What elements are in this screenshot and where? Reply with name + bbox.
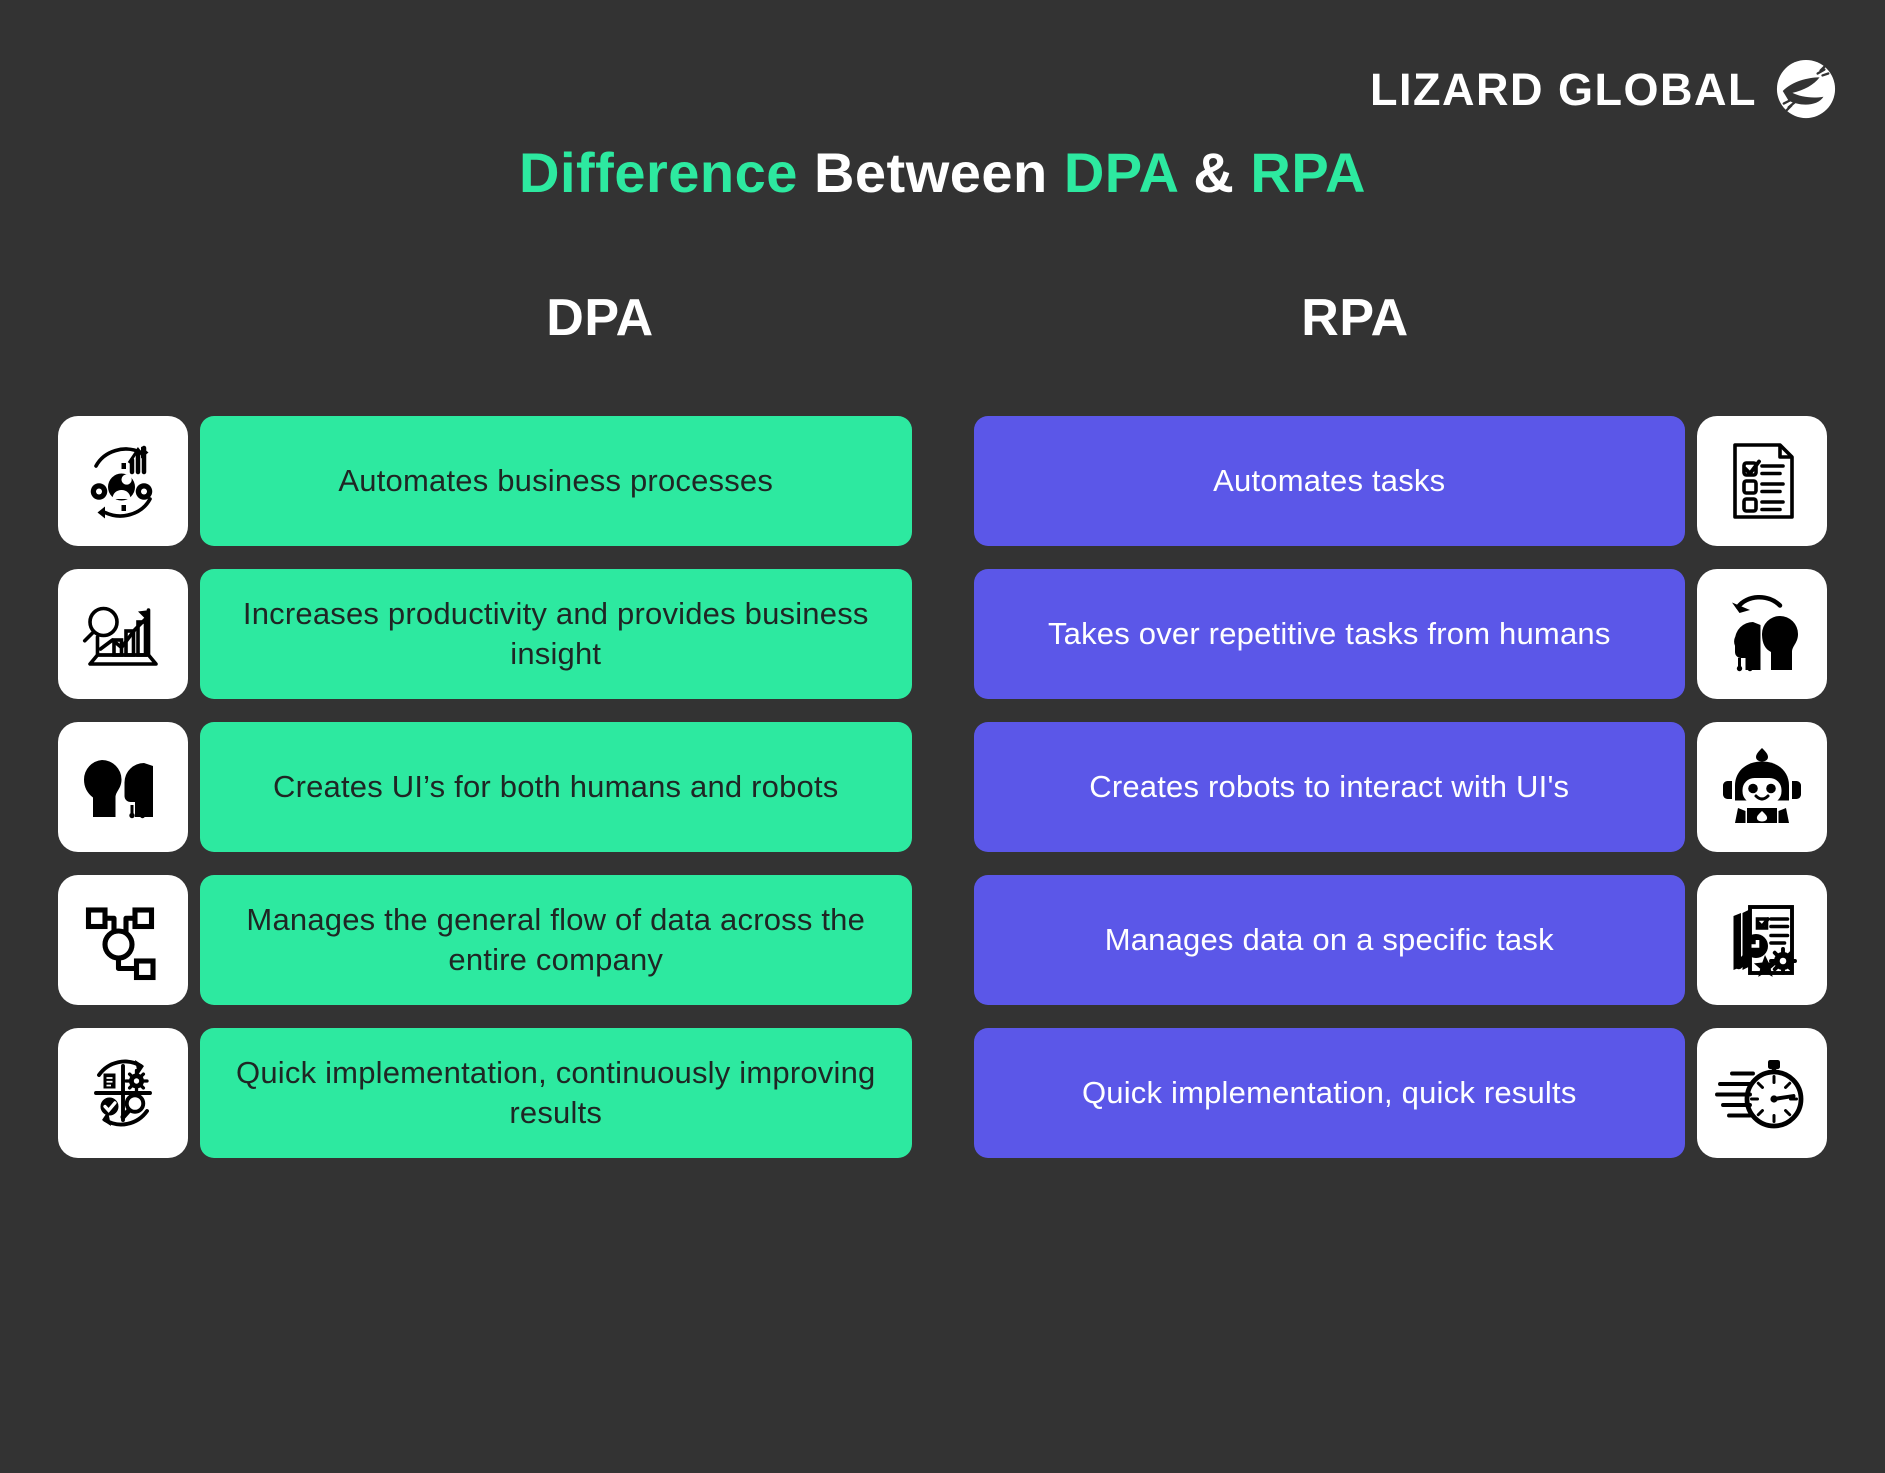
rpa-item-text: Automates tasks — [974, 416, 1686, 546]
dpa-item-text: Quick implementation, continuously impro… — [200, 1028, 912, 1158]
rpa-item: Creates robots to interact with UI's — [974, 722, 1828, 852]
checklist-document-icon — [1697, 416, 1827, 546]
rpa-item: Manages data on a specific task — [974, 875, 1828, 1005]
robot-head-arrow-human-head-icon — [1697, 569, 1827, 699]
flow-network-nodes-icon — [58, 875, 188, 1005]
title-part-rpa: RPA — [1250, 141, 1366, 204]
friendly-robot-icon — [1697, 722, 1827, 852]
comparison-row: Manages the general flow of data across … — [0, 875, 1885, 1005]
infographic-page: LIZARD GLOBAL Difference Between DPA & R… — [0, 0, 1885, 1473]
rpa-item-text: Manages data on a specific task — [974, 875, 1686, 1005]
rpa-item: Automates tasks — [974, 416, 1828, 546]
brand-name: LIZARD GLOBAL — [1370, 67, 1757, 112]
dpa-item: Automates business processes — [58, 416, 912, 546]
dpa-item: Manages the general flow of data across … — [58, 875, 912, 1005]
fast-stopwatch-icon — [1697, 1028, 1827, 1158]
comparison-row: Increases productivity and provides busi… — [0, 569, 1885, 699]
continuous-improvement-cycle-icon — [58, 1028, 188, 1158]
rpa-item: Takes over repetitive tasks from humans — [974, 569, 1828, 699]
rpa-item-text: Quick implementation, quick results — [974, 1028, 1686, 1158]
column-header-rpa: RPA — [995, 288, 1715, 348]
page-title: Difference Between DPA & RPA — [0, 140, 1885, 205]
rpa-item-text: Creates robots to interact with UI's — [974, 722, 1686, 852]
comparison-row: Quick implementation, continuously impro… — [0, 1028, 1885, 1158]
dpa-item: Quick implementation, continuously impro… — [58, 1028, 912, 1158]
dpa-item-text: Manages the general flow of data across … — [200, 875, 912, 1005]
comparison-rows: Automates business processes Automates t… — [0, 416, 1885, 1181]
human-head-robot-head-icon — [58, 722, 188, 852]
title-part-difference: Difference — [519, 141, 798, 204]
magnifier-growth-chart-icon — [58, 569, 188, 699]
lizard-circle-logo-icon — [1775, 58, 1837, 120]
title-part-amp: & — [1193, 141, 1234, 204]
comparison-row: Automates business processes Automates t… — [0, 416, 1885, 546]
document-magnifier-gear-icon — [1697, 875, 1827, 1005]
dpa-item: Increases productivity and provides busi… — [58, 569, 912, 699]
dpa-item-text: Automates business processes — [200, 416, 912, 546]
comparison-row: Creates UI’s for both humans and robots — [0, 722, 1885, 852]
rpa-item: Quick implementation, quick results — [974, 1028, 1828, 1158]
brand-logo: LIZARD GLOBAL — [1370, 58, 1837, 120]
dpa-item-text: Increases productivity and provides busi… — [200, 569, 912, 699]
title-part-between: Between — [814, 141, 1048, 204]
rpa-item-text: Takes over repetitive tasks from humans — [974, 569, 1686, 699]
dpa-item: Creates UI’s for both humans and robots — [58, 722, 912, 852]
title-part-dpa: DPA — [1064, 141, 1178, 204]
gears-person-chart-cycle-icon — [58, 416, 188, 546]
column-header-dpa: DPA — [240, 288, 960, 348]
dpa-item-text: Creates UI’s for both humans and robots — [200, 722, 912, 852]
